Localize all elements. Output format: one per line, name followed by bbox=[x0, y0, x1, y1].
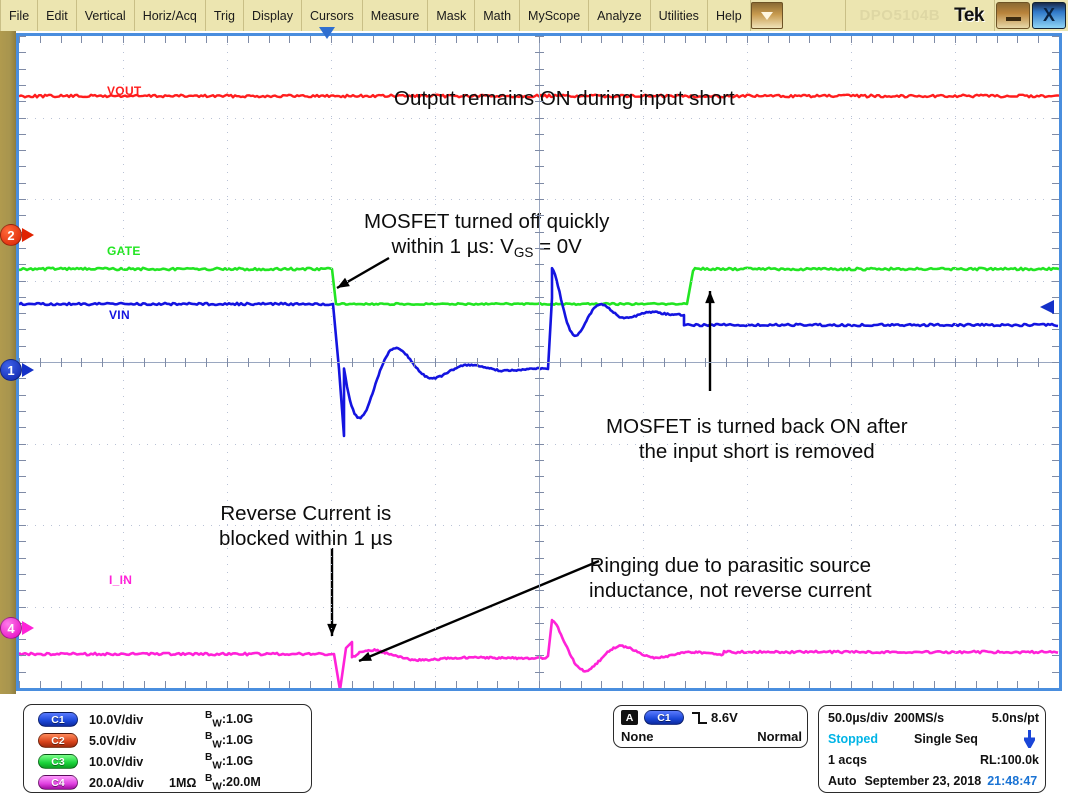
grid-tick bbox=[165, 681, 166, 688]
grid-tick bbox=[289, 36, 290, 43]
grid-tick bbox=[685, 358, 686, 367]
grid-tick bbox=[185, 358, 186, 367]
grid-tick bbox=[19, 672, 26, 673]
grid-tick bbox=[19, 69, 26, 70]
grid-tick bbox=[19, 639, 26, 640]
grid-tick bbox=[248, 681, 249, 688]
grid-tick bbox=[1052, 623, 1059, 624]
channel-bandwidth-c3: BW:1.0G bbox=[205, 752, 253, 772]
menu-item-measure[interactable]: Measure bbox=[363, 0, 429, 31]
grid-tick bbox=[269, 36, 270, 43]
trigger-mode: Auto bbox=[828, 774, 856, 788]
grid-tick bbox=[1052, 395, 1059, 396]
grid-tick bbox=[477, 36, 478, 43]
grid-tick bbox=[518, 358, 519, 367]
trigger-readout-box: A C1 8.6V None Normal bbox=[613, 705, 808, 748]
channel-marker-1[interactable]: 1 bbox=[0, 359, 22, 381]
grid-tick bbox=[535, 101, 544, 102]
grid-tick bbox=[19, 346, 26, 347]
grid-tick bbox=[144, 358, 145, 367]
grid-tick bbox=[1052, 101, 1059, 102]
grid-tick bbox=[1052, 639, 1059, 640]
grid-tick bbox=[19, 313, 26, 314]
grid-tick bbox=[535, 199, 544, 200]
grid-tick bbox=[535, 607, 544, 608]
menu-item-mask[interactable]: Mask bbox=[428, 0, 475, 31]
grid-tick bbox=[1052, 36, 1059, 37]
channel-badge-c3[interactable]: C3 bbox=[38, 754, 78, 769]
graticule-inner: VOUT GATE VIN I_IN Output remains ON dur… bbox=[19, 36, 1059, 688]
menu-item-trig[interactable]: Trig bbox=[206, 0, 244, 31]
grid-tick bbox=[1052, 411, 1059, 412]
grid-tick bbox=[601, 36, 602, 43]
grid-tick bbox=[310, 36, 311, 43]
grid-tick bbox=[352, 681, 353, 688]
grid-tick bbox=[913, 358, 914, 367]
channel-scale-c3: 10.0V/div bbox=[89, 755, 143, 769]
channel-scale-c2: 5.0V/div bbox=[89, 734, 136, 748]
grid-tick bbox=[768, 358, 769, 367]
grid-tick bbox=[352, 36, 353, 43]
grid-tick bbox=[81, 36, 82, 43]
grid-tick bbox=[19, 492, 26, 493]
grid-tick bbox=[1052, 166, 1059, 167]
tek-logo: Tek bbox=[954, 5, 988, 27]
grid-tick bbox=[535, 444, 544, 445]
grid-tick bbox=[40, 36, 41, 43]
grid-tick bbox=[955, 358, 956, 367]
channel-badge-c1[interactable]: C1 bbox=[38, 712, 78, 727]
grid-tick bbox=[789, 36, 790, 43]
channel-bandwidth-c2: BW:1.0G bbox=[205, 731, 253, 751]
menu-item-edit[interactable]: Edit bbox=[38, 0, 77, 31]
grid-tick bbox=[1052, 460, 1059, 461]
grid-tick bbox=[664, 358, 665, 367]
grid-tick bbox=[1052, 199, 1059, 200]
grid-tick bbox=[289, 358, 290, 367]
grid-tick bbox=[685, 681, 686, 688]
grid-tick bbox=[1052, 118, 1059, 119]
grid-tick bbox=[809, 681, 810, 688]
grid-tick bbox=[19, 101, 26, 102]
grid-tick bbox=[497, 36, 498, 43]
grid-tick bbox=[1052, 525, 1059, 526]
grid-tick bbox=[393, 36, 394, 43]
grid-tick bbox=[373, 681, 374, 688]
grid-tick bbox=[851, 681, 852, 688]
grid-tick bbox=[185, 36, 186, 43]
grid-tick bbox=[1052, 574, 1059, 575]
grid-tick bbox=[393, 358, 394, 367]
channel-marker-4[interactable]: 4 bbox=[0, 617, 22, 639]
annotation-ringing: Ringing due to parasitic source inductan… bbox=[589, 553, 872, 603]
grid-tick bbox=[19, 36, 20, 43]
grid-tick bbox=[165, 36, 166, 43]
waveform-label-vout: VOUT bbox=[107, 84, 142, 98]
grid-tick bbox=[19, 525, 26, 526]
trigger-position-marker[interactable] bbox=[319, 27, 335, 39]
grid-tick bbox=[123, 681, 124, 688]
grid-tick bbox=[976, 358, 977, 367]
channel-impedance-c4: 1MΩ bbox=[169, 776, 196, 790]
grid-tick bbox=[518, 681, 519, 688]
grid-tick bbox=[1052, 52, 1059, 53]
channel-marker-1-arrow bbox=[22, 363, 34, 377]
grid-tick bbox=[997, 358, 998, 367]
grid-tick bbox=[664, 36, 665, 43]
grid-tick bbox=[1052, 492, 1059, 493]
grid-tick bbox=[435, 358, 436, 367]
grid-tick bbox=[997, 681, 998, 688]
grid-tick bbox=[456, 358, 457, 367]
grid-tick bbox=[664, 681, 665, 688]
grid-tick bbox=[535, 427, 544, 428]
grid-tick bbox=[1052, 558, 1059, 559]
timebase: 50.0µs/div bbox=[828, 711, 888, 725]
grid-tick bbox=[165, 358, 166, 367]
grid-tick bbox=[535, 574, 544, 575]
grid-tick bbox=[1052, 655, 1059, 656]
channel-badge-c4[interactable]: C4 bbox=[38, 775, 78, 790]
grid-tick bbox=[289, 681, 290, 688]
waveform-label-iin: I_IN bbox=[109, 573, 132, 587]
triangle-down-icon[interactable] bbox=[751, 2, 783, 29]
grid-tick bbox=[477, 358, 478, 367]
grid-tick bbox=[643, 681, 644, 688]
grid-tick bbox=[560, 681, 561, 688]
grid-tick bbox=[747, 36, 748, 43]
grid-tick bbox=[851, 36, 852, 43]
grid-tick bbox=[872, 358, 873, 367]
grid-tick bbox=[248, 358, 249, 367]
grid-tick bbox=[206, 681, 207, 688]
grid-tick bbox=[535, 655, 544, 656]
minimize-icon bbox=[1006, 17, 1021, 21]
annotation-mosfet-off: MOSFET turned off quickly within 1 µs: V… bbox=[364, 209, 609, 259]
grid-tick bbox=[535, 623, 544, 624]
grid-tick bbox=[310, 681, 311, 688]
grid-tick bbox=[19, 281, 26, 282]
grid-tick bbox=[535, 558, 544, 559]
grid-tick bbox=[19, 378, 26, 379]
grid-tick bbox=[705, 681, 706, 688]
grid-tick bbox=[851, 358, 852, 367]
grid-tick bbox=[19, 118, 26, 119]
menu-item-vertical[interactable]: Vertical bbox=[77, 0, 135, 31]
grid-tick bbox=[19, 476, 26, 477]
grid-tick bbox=[581, 36, 582, 43]
acquisition-readout-box: 50.0µs/div 200MS/s 5.0ns/pt Stopped Sing… bbox=[818, 705, 1046, 793]
grid-tick bbox=[1052, 150, 1059, 151]
grid-tick bbox=[19, 558, 26, 559]
trigger-holdoff: None bbox=[621, 729, 654, 744]
grid-tick bbox=[1017, 36, 1018, 43]
grid-tick bbox=[81, 681, 82, 688]
grid-tick bbox=[19, 248, 26, 249]
grid-tick bbox=[934, 36, 935, 43]
grid-tick bbox=[19, 215, 26, 216]
grid-tick bbox=[893, 36, 894, 43]
grid-tick bbox=[19, 427, 26, 428]
grid-tick bbox=[373, 36, 374, 43]
menu-item-analyze[interactable]: Analyze bbox=[589, 0, 650, 31]
grid-tick bbox=[19, 607, 26, 608]
grid-tick bbox=[913, 36, 914, 43]
grid-tick bbox=[1052, 362, 1059, 363]
channel-marker-4-arrow bbox=[22, 621, 34, 635]
close-button[interactable]: X bbox=[1032, 2, 1066, 29]
grid-tick bbox=[1052, 232, 1059, 233]
grid-tick bbox=[535, 150, 544, 151]
grid-tick bbox=[19, 166, 26, 167]
grid-tick bbox=[19, 183, 26, 184]
record-length: RL:100.0k bbox=[980, 753, 1039, 767]
grid-tick bbox=[601, 358, 602, 367]
grid-tick bbox=[414, 358, 415, 367]
annotation-reverse-current: Reverse Current is blocked within 1 µs bbox=[219, 501, 393, 551]
grid-tick bbox=[705, 36, 706, 43]
grid-tick bbox=[19, 541, 26, 542]
grid-tick bbox=[19, 411, 26, 412]
grid-tick bbox=[643, 36, 644, 43]
grid-tick bbox=[643, 358, 644, 367]
grid-tick bbox=[1052, 378, 1059, 379]
menu-item-help[interactable]: Help bbox=[708, 0, 751, 31]
grid-tick bbox=[535, 509, 544, 510]
trigger-source-badge[interactable]: C1 bbox=[644, 710, 684, 725]
grid-tick bbox=[539, 36, 540, 43]
grid-tick bbox=[1052, 281, 1059, 282]
grid-tick bbox=[1052, 607, 1059, 608]
grid-tick bbox=[535, 215, 544, 216]
grid-tick bbox=[934, 358, 935, 367]
grid-tick bbox=[1052, 590, 1059, 591]
grid-tick bbox=[435, 36, 436, 43]
grid-tick bbox=[934, 681, 935, 688]
grid-tick bbox=[185, 681, 186, 688]
grid-tick bbox=[1017, 681, 1018, 688]
grid-tick bbox=[601, 681, 602, 688]
grid-tick bbox=[331, 681, 332, 688]
grid-tick bbox=[535, 346, 544, 347]
grid-tick bbox=[414, 681, 415, 688]
grid-tick bbox=[1052, 85, 1059, 86]
grid-tick bbox=[1052, 297, 1059, 298]
scope-display-area: VOUT GATE VIN I_IN Output remains ON dur… bbox=[16, 31, 1068, 694]
grid-tick bbox=[40, 681, 41, 688]
grid-tick bbox=[535, 36, 544, 37]
grid-tick bbox=[19, 655, 26, 656]
grid-tick bbox=[535, 264, 544, 265]
grid-tick bbox=[535, 362, 544, 363]
grid-tick bbox=[19, 681, 20, 688]
grid-tick bbox=[726, 358, 727, 367]
menu-item-file[interactable]: File bbox=[0, 0, 38, 31]
grid-tick bbox=[535, 378, 544, 379]
grid-tick bbox=[560, 36, 561, 43]
grid-tick bbox=[1052, 183, 1059, 184]
grid-tick bbox=[518, 36, 519, 43]
grid-tick bbox=[248, 36, 249, 43]
grid-tick bbox=[19, 574, 26, 575]
grid-tick bbox=[789, 681, 790, 688]
grid-tick bbox=[61, 36, 62, 43]
grid-tick bbox=[144, 681, 145, 688]
grid-tick bbox=[535, 183, 544, 184]
grid-tick bbox=[227, 358, 228, 367]
grid-tick bbox=[535, 281, 544, 282]
down-arrow-icon bbox=[1024, 730, 1035, 748]
grid-tick bbox=[535, 313, 544, 314]
menu-spacer bbox=[783, 0, 846, 31]
minimize-button[interactable] bbox=[996, 2, 1030, 29]
grid-tick bbox=[123, 36, 124, 43]
leader-mosfet-off bbox=[337, 258, 389, 288]
grid-tick bbox=[1052, 672, 1059, 673]
grid-tick bbox=[535, 590, 544, 591]
grid-tick bbox=[581, 681, 582, 688]
time: 21:48:47 bbox=[987, 774, 1037, 788]
grid-tick bbox=[893, 358, 894, 367]
acq-mode: Single Seq bbox=[914, 732, 978, 746]
grid-tick bbox=[1052, 134, 1059, 135]
grid-tick bbox=[19, 329, 26, 330]
grid-tick bbox=[269, 681, 270, 688]
grid-tick bbox=[622, 36, 623, 43]
grid-tick bbox=[123, 358, 124, 367]
grid-tick bbox=[206, 358, 207, 367]
grid-tick bbox=[726, 681, 727, 688]
grid-tick bbox=[102, 681, 103, 688]
grid-tick bbox=[622, 358, 623, 367]
grid-tick bbox=[1052, 476, 1059, 477]
channel-scale-c1: 10.0V/div bbox=[89, 713, 143, 727]
grid-tick bbox=[269, 358, 270, 367]
grid-tick bbox=[227, 681, 228, 688]
grid-tick bbox=[997, 36, 998, 43]
menu-item-horiz-acq[interactable]: Horiz/Acq bbox=[135, 0, 206, 31]
grid-tick bbox=[685, 36, 686, 43]
channel-bandwidth-c1: BW:1.0G bbox=[205, 710, 253, 730]
grid-tick bbox=[535, 525, 544, 526]
channel-marker-2[interactable]: 2 bbox=[0, 224, 22, 246]
grid-tick bbox=[913, 681, 914, 688]
grid-tick bbox=[535, 69, 544, 70]
date: September 23, 2018 bbox=[864, 774, 981, 788]
grid-tick bbox=[535, 232, 544, 233]
grid-tick bbox=[535, 329, 544, 330]
grid-tick bbox=[61, 358, 62, 367]
grid-tick bbox=[19, 134, 26, 135]
channel-badge-c2[interactable]: C2 bbox=[38, 733, 78, 748]
grid-tick bbox=[393, 681, 394, 688]
grid-tick bbox=[705, 358, 706, 367]
grid-tick bbox=[893, 681, 894, 688]
grid-tick bbox=[1052, 427, 1059, 428]
grid-tick bbox=[19, 199, 26, 200]
grid-tick bbox=[726, 36, 727, 43]
trigger-coupling: Normal bbox=[757, 729, 802, 744]
grid-tick bbox=[19, 297, 26, 298]
grid-tick bbox=[535, 460, 544, 461]
grid-tick bbox=[1052, 215, 1059, 216]
grid-tick bbox=[560, 358, 561, 367]
menu-bar: File Edit Vertical Horiz/Acq Trig Displa… bbox=[0, 0, 1068, 32]
acq-count: 1 acqs bbox=[828, 753, 867, 767]
grid-tick bbox=[373, 358, 374, 367]
grid-tick bbox=[955, 681, 956, 688]
sample-rate: 200MS/s bbox=[894, 711, 944, 725]
grid-tick bbox=[435, 681, 436, 688]
grid-tick bbox=[976, 681, 977, 688]
grid-tick bbox=[535, 639, 544, 640]
grid-tick bbox=[1017, 358, 1018, 367]
grid-tick bbox=[809, 36, 810, 43]
grid-tick bbox=[830, 36, 831, 43]
run-state: Stopped bbox=[828, 732, 878, 746]
grid-tick bbox=[535, 52, 544, 53]
grid-tick bbox=[19, 264, 26, 265]
grid-tick bbox=[1052, 329, 1059, 330]
grid-tick bbox=[535, 395, 544, 396]
annotation-mosfet-back-on: MOSFET is turned back ON after the input… bbox=[606, 414, 908, 464]
annotation-output-on: Output remains ON during input short bbox=[394, 86, 735, 111]
model-watermark: DPO5104B bbox=[859, 7, 940, 24]
grid-tick bbox=[19, 36, 26, 37]
grid-tick bbox=[768, 681, 769, 688]
grid-tick bbox=[102, 358, 103, 367]
menu-item-math[interactable]: Math bbox=[475, 0, 520, 31]
grid-tick bbox=[19, 509, 26, 510]
grid-tick bbox=[456, 36, 457, 43]
grid-tick bbox=[830, 681, 831, 688]
channel-readout-box: C1 10.0V/div BW:1.0G C2 5.0V/div BW:1.0G… bbox=[23, 704, 312, 793]
grid-tick bbox=[535, 85, 544, 86]
grid-tick bbox=[581, 358, 582, 367]
channel-scale-c4: 20.0A/div bbox=[89, 776, 144, 790]
grid-tick bbox=[976, 36, 977, 43]
grid-tick bbox=[19, 444, 26, 445]
grid-tick bbox=[1052, 541, 1059, 542]
grid-tick bbox=[535, 672, 544, 673]
graticule[interactable]: VOUT GATE VIN I_IN Output remains ON dur… bbox=[16, 33, 1062, 691]
grid-tick bbox=[1052, 264, 1059, 265]
falling-edge-icon bbox=[691, 711, 708, 725]
grid-tick bbox=[19, 460, 26, 461]
grid-tick bbox=[414, 36, 415, 43]
grid-tick bbox=[872, 36, 873, 43]
leader-reverse-current bbox=[327, 548, 337, 636]
grid-tick bbox=[1052, 444, 1059, 445]
grid-tick bbox=[535, 166, 544, 167]
grid-tick bbox=[1038, 358, 1039, 367]
menu-item-display[interactable]: Display bbox=[244, 0, 302, 31]
grid-tick bbox=[1038, 36, 1039, 43]
grid-tick bbox=[144, 36, 145, 43]
grid-tick bbox=[535, 492, 544, 493]
grid-tick bbox=[535, 248, 544, 249]
grid-tick bbox=[1052, 509, 1059, 510]
grid-tick bbox=[81, 358, 82, 367]
grid-tick bbox=[830, 358, 831, 367]
grid-tick bbox=[19, 150, 26, 151]
grid-tick bbox=[19, 85, 26, 86]
grid-tick bbox=[497, 358, 498, 367]
grid-tick bbox=[1052, 69, 1059, 70]
grid-tick bbox=[19, 52, 26, 53]
menu-item-myscope[interactable]: MyScope bbox=[520, 0, 589, 31]
menu-item-utilities[interactable]: Utilities bbox=[651, 0, 708, 31]
